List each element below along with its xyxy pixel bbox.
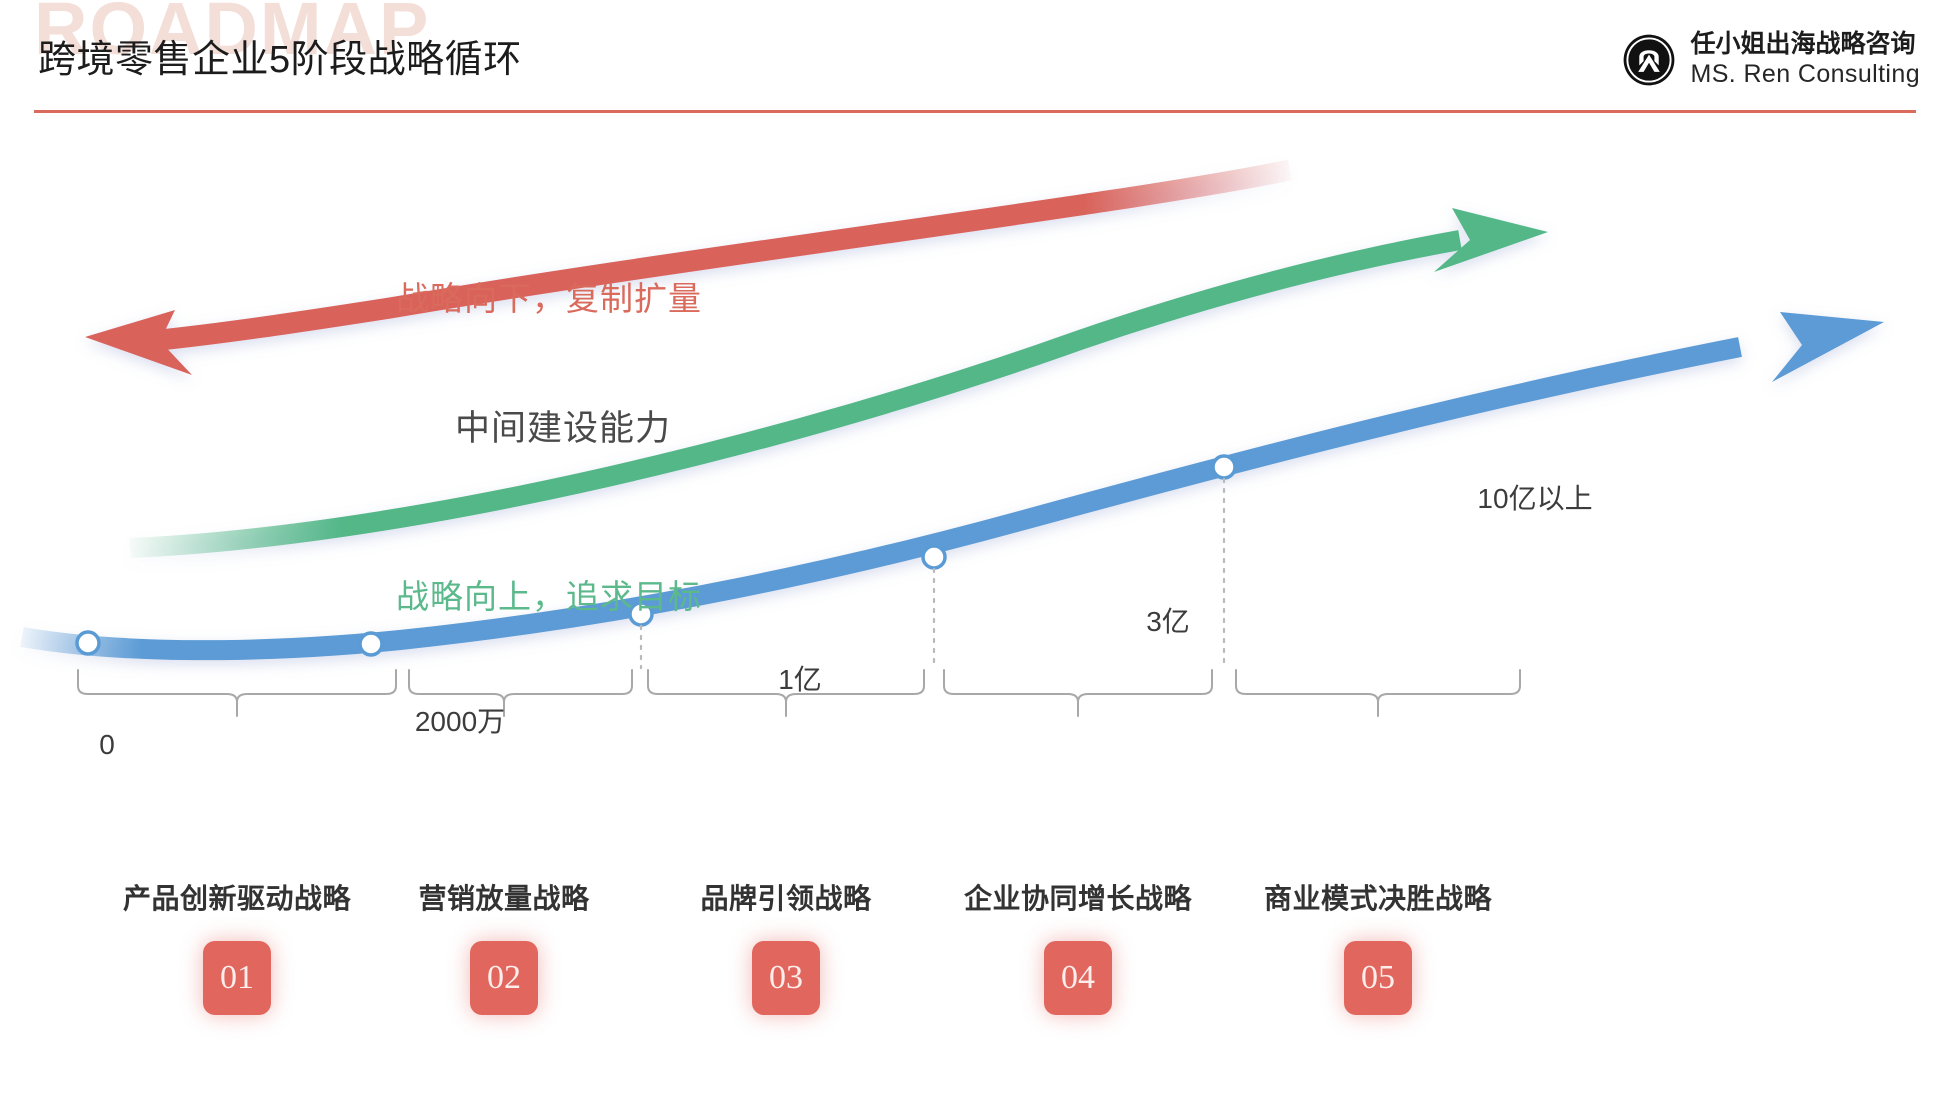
stage-badge-02: 02 xyxy=(470,941,538,1015)
milestone-label-4: 10亿以上 xyxy=(1477,477,1592,517)
stage-badge-04: 04 xyxy=(1044,941,1112,1015)
stage-badge-03: 03 xyxy=(752,941,820,1015)
brand-name-en: MS. Ren Consulting xyxy=(1690,60,1920,90)
header-divider xyxy=(34,110,1916,113)
stage-label-04: 企业协同增长战略 xyxy=(918,877,1238,917)
milestone-label-2: 1亿 xyxy=(778,658,822,698)
stage-block-03: 品牌引领战略 03 xyxy=(626,877,946,1015)
stage-label-02: 营销放量战略 xyxy=(344,877,664,917)
stage-block-05: 商业模式决胜战略 05 xyxy=(1218,877,1538,1015)
blue-growth-curve xyxy=(22,312,1884,650)
brand-name-cn: 任小姐出海战略咨询 xyxy=(1690,30,1920,60)
page-title: 跨境零售企业5阶段战略循环 xyxy=(38,28,522,83)
stage-badge-01: 01 xyxy=(203,941,271,1015)
brand-text: 任小姐出海战略咨询 MS. Ren Consulting xyxy=(1690,30,1920,89)
ms-ren-circle-logo-icon xyxy=(1622,33,1676,87)
milestone-label-1: 2000万 xyxy=(415,700,505,740)
annotation-red-arrow: 战略向下，复制扩量 xyxy=(396,272,702,320)
roadmap-slide: ROADMAP 跨境零售企业5阶段战略循环 任小姐出海战略咨询 MS. Ren … xyxy=(0,0,1950,1098)
milestone-label-3: 3亿 xyxy=(1146,600,1190,640)
milestone-leader-lines xyxy=(641,479,1224,668)
stage-block-02: 营销放量战略 02 xyxy=(344,877,664,1015)
stage-label-03: 品牌引领战略 xyxy=(626,877,946,917)
stage-label-05: 商业模式决胜战略 xyxy=(1218,877,1538,917)
annotation-green-arrow: 战略向上，追求目标 xyxy=(396,570,702,618)
annotation-middle: 中间建设能力 xyxy=(455,400,671,451)
milestone-label-0: 0 xyxy=(99,729,115,761)
stage-badge-05: 05 xyxy=(1344,941,1412,1015)
milestone-markers xyxy=(77,456,1235,655)
stage-block-04: 企业协同增长战略 04 xyxy=(918,877,1238,1015)
green-strategy-arrow xyxy=(130,208,1548,548)
brand-block: 任小姐出海战略咨询 MS. Ren Consulting xyxy=(1622,30,1920,89)
